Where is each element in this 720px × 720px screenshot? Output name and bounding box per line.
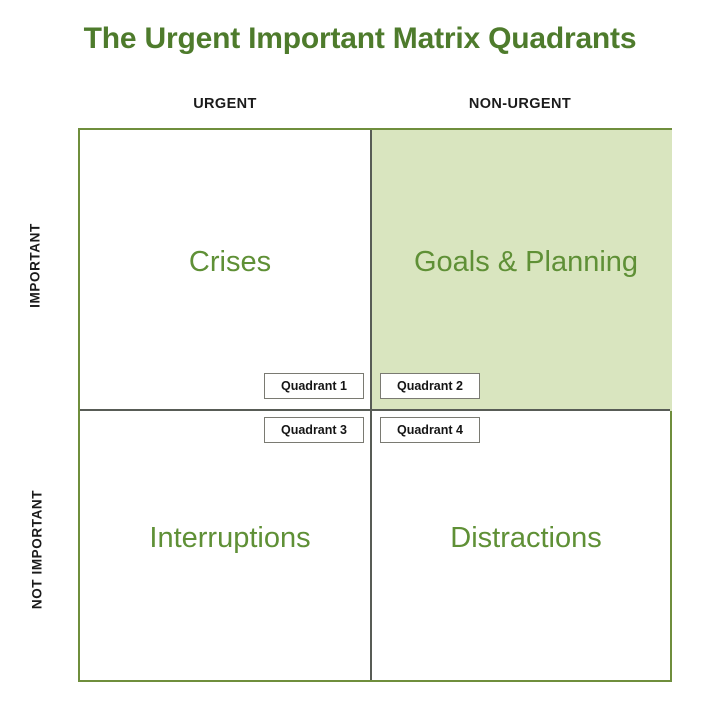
quadrant-1-label: Crises: [90, 246, 370, 279]
quadrant-2-label: Goals & Planning: [382, 246, 670, 279]
quadrant-2-tag: Quadrant 2: [380, 373, 480, 399]
column-header-non-urgent: NON-URGENT: [440, 96, 600, 112]
row-header-not-important: NOT IMPORTANT: [30, 460, 45, 640]
matrix-grid: Crises Goals & Planning Interruptions Di…: [78, 128, 672, 682]
quadrant-4-tag: Quadrant 4: [380, 417, 480, 443]
page-title: The Urgent Important Matrix Quadrants: [0, 22, 720, 56]
vertical-divider: [370, 130, 372, 680]
horizontal-divider: [80, 409, 670, 411]
quadrant-4-label: Distractions: [382, 522, 670, 555]
quadrant-1-tag: Quadrant 1: [264, 373, 364, 399]
row-header-important: IMPORTANT: [28, 186, 43, 346]
column-header-urgent: URGENT: [155, 96, 295, 112]
quadrant-3-tag: Quadrant 3: [264, 417, 364, 443]
quadrant-3-label: Interruptions: [90, 522, 370, 555]
